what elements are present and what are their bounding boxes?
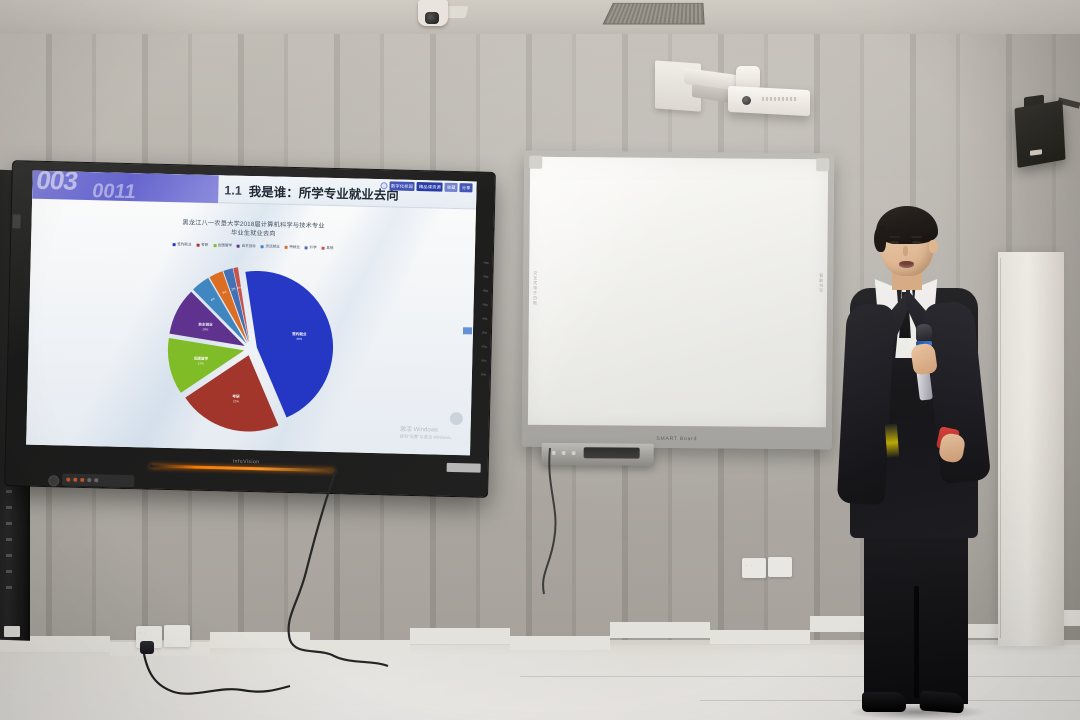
- ceiling-camera-icon: [418, 0, 448, 26]
- wall-column: [998, 252, 1064, 646]
- display-brand: InfoVision: [233, 459, 260, 466]
- watermark-orb: [450, 412, 463, 425]
- air-vent-icon: [602, 3, 704, 25]
- control-key[interactable]: [73, 478, 77, 482]
- display-side-port: [12, 214, 20, 228]
- pen-tray-button[interactable]: [562, 451, 566, 455]
- legend-swatch: [322, 247, 325, 250]
- microphone-head-icon: [916, 324, 932, 342]
- pie-label-name-1: 考研: [232, 394, 240, 399]
- toolbar-chip-2[interactable]: 收藏: [445, 183, 458, 192]
- classroom-scene: 交互式电子白板 智能书写 SMART Board 003: [0, 0, 1080, 720]
- pen-tray-button[interactable]: [572, 451, 576, 455]
- pie-label-value-2: 12%: [198, 361, 204, 365]
- socket-holes: · ·: [140, 631, 147, 636]
- whiteboard-side-label-right: 智能书写: [818, 273, 824, 293]
- slide-edge-marker: [463, 327, 472, 334]
- deco-number: 003: [34, 171, 79, 197]
- wall-plate-right[interactable]: [768, 557, 792, 577]
- control-key[interactable]: [94, 478, 98, 482]
- toolbar-chip-0[interactable]: 数字化校园: [389, 181, 415, 191]
- windows-activation-watermark: 激活 Windows 转到"设置"以激活 Windows。: [400, 424, 455, 441]
- secondary-display-buttons[interactable]: [6, 490, 12, 600]
- legend-swatch: [173, 243, 176, 246]
- pie-label-name-3: 自主创业: [198, 321, 213, 326]
- presenter-brow-left: [889, 236, 900, 238]
- presenter-shoe-right: [919, 690, 964, 713]
- legend-swatch: [196, 244, 199, 247]
- legend-label: 自主创业: [241, 244, 255, 249]
- display-control-keys[interactable]: [62, 473, 134, 487]
- wall-plate-left[interactable]: · ·: [742, 558, 766, 578]
- chart-title: 黑龙江八一农垦大学2018届计算机科学与技术专业 毕业生就业去向: [98, 216, 408, 242]
- wall-plate-blank[interactable]: [164, 625, 190, 647]
- toolbar-chip-3[interactable]: 分享: [460, 183, 473, 192]
- presentation-slide: 003 0011 1.1 我是谁：所学专业就业去向 数字化校园 精品课资源 收藏…: [26, 171, 477, 456]
- watermark-line-2: 转到"设置"以激活 Windows。: [400, 434, 455, 441]
- slide-section-number: 1.1: [224, 183, 242, 197]
- whiteboard-brand: SMART Board: [656, 436, 697, 442]
- toolbar-logo-icon[interactable]: [380, 182, 387, 189]
- projector-lens-icon: [742, 96, 751, 105]
- presenter: [828, 196, 998, 720]
- pie-label-value-7: 1%: [237, 285, 242, 290]
- presenter-ear: [929, 240, 938, 253]
- slide-title: 1.1 我是谁：所学专业就业去向: [224, 178, 399, 205]
- legend-item-7: 其他: [322, 246, 334, 251]
- presenter-nose: [903, 246, 908, 256]
- legend-swatch: [237, 245, 240, 248]
- wall-speaker-icon: [1014, 100, 1065, 168]
- legend-swatch: [261, 245, 264, 248]
- presenter-hair-side: [874, 226, 886, 252]
- legend-label: 灵活就业: [265, 244, 279, 249]
- skirting: [310, 640, 410, 654]
- legend-label: 升学: [309, 245, 316, 250]
- watermark-line-1: 激活 Windows: [400, 424, 455, 434]
- pie-chart: 签约就业46%考研22%出国留学12%自主创业10%4%3%2%1%: [155, 254, 345, 444]
- presenter-eye-right: [912, 241, 921, 244]
- skirting: [410, 628, 510, 644]
- display-light-bar: [150, 465, 335, 473]
- socket-holes: · ·: [746, 563, 753, 568]
- whiteboard-surface[interactable]: [528, 157, 828, 428]
- toolbar-chip-1[interactable]: 精品课资源: [417, 182, 443, 192]
- interactive-display[interactable]: 003 0011 1.1 我是谁：所学专业就业去向 数字化校园 精品课资源 收藏…: [4, 160, 496, 498]
- legend-label: 出国留学: [218, 243, 232, 248]
- presenter-brow-right: [911, 236, 922, 238]
- pen-tray-button[interactable]: [552, 451, 556, 455]
- pie-label-name-0: 签约就业: [291, 331, 307, 336]
- legend-label: 其他: [326, 246, 333, 251]
- legend-label: 考研: [201, 243, 208, 248]
- pie-chart-svg: 签约就业46%考研22%出国留学12%自主创业10%4%3%2%1%: [155, 254, 345, 444]
- slide-title-text: 我是谁：所学专业就业去向: [249, 181, 399, 204]
- presenter-shoe-left: [862, 692, 906, 712]
- legend-label: 签约就业: [177, 242, 191, 247]
- ir-receiver-icon: [48, 475, 59, 486]
- legend-item-1: 考研: [196, 243, 208, 248]
- legend-item-2: 出国留学: [213, 243, 232, 248]
- control-key[interactable]: [66, 478, 70, 482]
- whiteboard-glare: [528, 157, 828, 428]
- legend-item-0: 签约就业: [173, 242, 192, 247]
- column-edge: [1000, 258, 1001, 638]
- whiteboard-side-label-left: 交互式电子白板: [532, 271, 538, 306]
- legend-item-3: 自主创业: [237, 244, 256, 249]
- pen-tray-slot: [584, 447, 640, 458]
- legend-item-4: 灵活就业: [261, 244, 280, 249]
- slide-header-decoration: 003 0011: [32, 171, 219, 204]
- legend-item-5: 待就业: [285, 245, 300, 250]
- presenter-lanyard-badge: [885, 424, 899, 459]
- skirting: [510, 636, 610, 650]
- legend-swatch: [213, 244, 216, 247]
- whiteboard-pen-tray[interactable]: [542, 443, 654, 466]
- ppt-toolbar[interactable]: 数字化校园 精品课资源 收藏 分享: [378, 180, 475, 193]
- presenter-mouth: [899, 261, 914, 268]
- legend-swatch: [285, 246, 288, 249]
- power-plug[interactable]: [140, 641, 154, 654]
- display-screen[interactable]: 003 0011 1.1 我是谁：所学专业就业去向 数字化校园 精品课资源 收藏…: [26, 171, 477, 456]
- pie-label-value-3: 10%: [202, 327, 208, 331]
- control-key[interactable]: [80, 478, 84, 482]
- skirting: [710, 630, 810, 644]
- smart-whiteboard[interactable]: 交互式电子白板 智能书写 SMART Board: [522, 151, 835, 450]
- legend-label: 待就业: [289, 245, 300, 250]
- secondary-display-label: [4, 626, 20, 637]
- pie-label-value-0: 46%: [296, 337, 302, 341]
- skirting: [210, 632, 310, 648]
- display-corner-tag: [447, 463, 481, 473]
- pie-label-value-1: 22%: [233, 399, 239, 403]
- projector-vent: [762, 97, 798, 101]
- presenter-hand-holding-mic: [910, 342, 938, 375]
- projector-icon: [728, 86, 810, 116]
- whiteboard-frame: 交互式电子白板 智能书写 SMART Board: [522, 151, 835, 450]
- legend-swatch: [305, 246, 308, 249]
- presenter-leg-gap: [914, 586, 919, 698]
- control-key[interactable]: [87, 478, 91, 482]
- pie-label-name-2: 出国留学: [194, 356, 209, 361]
- slide-chart-area: 黑龙江八一农垦大学2018届计算机科学与技术专业 毕业生就业去向 签约就业考研出…: [26, 199, 476, 456]
- presenter-eye-left: [890, 241, 899, 244]
- whiteboard-corner: [529, 156, 542, 169]
- skirting: [610, 622, 710, 638]
- chart-legend: 签约就业考研出国留学自主创业灵活就业待就业升学其他: [173, 242, 334, 251]
- legend-item-6: 升学: [305, 245, 317, 250]
- whiteboard-corner: [816, 158, 829, 171]
